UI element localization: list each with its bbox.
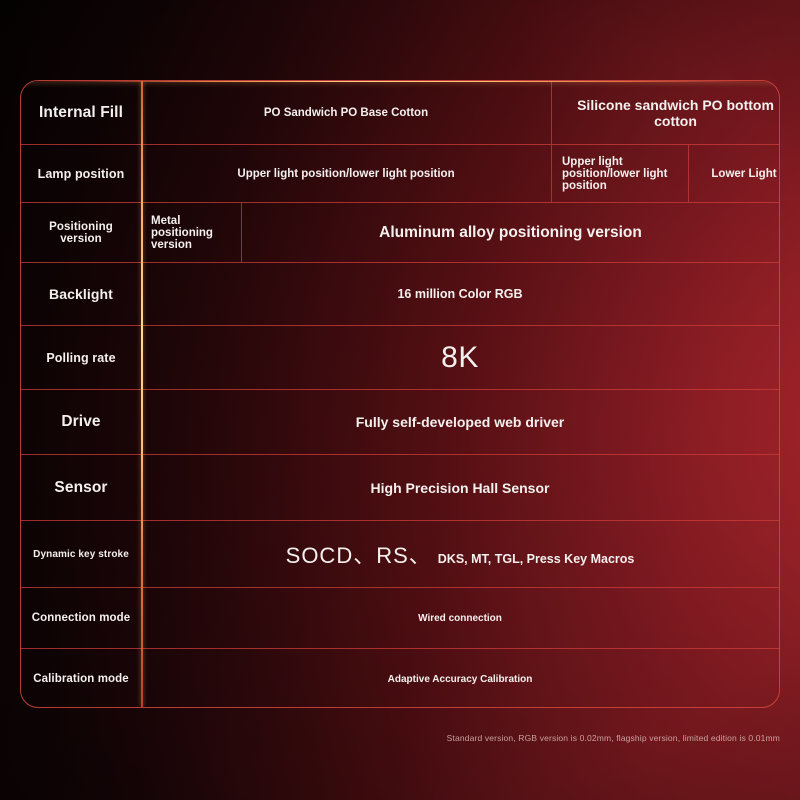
row-label: Drive — [21, 390, 141, 454]
table-row: Connection modeWired connection — [21, 588, 779, 649]
row-value-cell: Metal positioning version — [141, 203, 242, 262]
row-label: Sensor — [21, 455, 141, 520]
table-row: Backlight16 million Color RGB — [21, 263, 779, 326]
row-value-cell: 16 million Color RGB — [141, 263, 779, 325]
row-label: Lamp position — [21, 145, 141, 202]
row-value-cell: Silicone sandwich PO bottom cotton — [552, 81, 780, 144]
table-row: Positioning versionMetal positioning ver… — [21, 203, 779, 263]
row-value-cell: Lower Light — [689, 145, 780, 202]
table-row: Calibration modeAdaptive Accuracy Calibr… — [21, 649, 779, 708]
row-label: Backlight — [21, 263, 141, 325]
row-label: Positioning version — [21, 203, 141, 262]
row-value-cell: High Precision Hall Sensor — [141, 455, 779, 520]
table-row: Dynamic key strokeSOCD、RS、DKS, MT, TGL, … — [21, 521, 779, 588]
row-label: Dynamic key stroke — [21, 521, 141, 587]
row-label: Calibration mode — [21, 649, 141, 708]
row-label: Internal Fill — [21, 81, 141, 144]
socd-lead-text: SOCD、RS、 — [286, 538, 432, 570]
row-value-cell: Upper light position/lower light positio… — [552, 145, 689, 202]
footnote-text: Standard version, RGB version is 0.02mm,… — [0, 733, 780, 743]
row-label: Connection mode — [21, 588, 141, 648]
row-value-cell: Wired connection — [141, 588, 779, 648]
socd-rest-text: DKS, MT, TGL, Press Key Macros — [438, 552, 635, 566]
row-value-cell: Fully self-developed web driver — [141, 390, 779, 454]
table-row: SensorHigh Precision Hall Sensor — [21, 455, 779, 521]
specification-table: Internal FillPO Sandwich PO Base CottonS… — [20, 80, 780, 708]
row-value-cell: Adaptive Accuracy Calibration — [141, 649, 779, 708]
row-value-cell: SOCD、RS、DKS, MT, TGL, Press Key Macros — [141, 521, 779, 587]
row-value-cell: 8K — [141, 326, 779, 389]
table-row: DriveFully self-developed web driver — [21, 390, 779, 455]
table-row: Internal FillPO Sandwich PO Base CottonS… — [21, 81, 779, 145]
table-rows-container: Internal FillPO Sandwich PO Base CottonS… — [21, 81, 779, 708]
row-label: Polling rate — [21, 326, 141, 389]
row-value-cell: PO Sandwich PO Base Cotton — [141, 81, 552, 144]
table-row: Polling rate8K — [21, 326, 779, 390]
row-value-cell: Upper light position/lower light positio… — [141, 145, 552, 202]
row-value-cell: Aluminum alloy positioning version — [242, 203, 779, 262]
table-row: Lamp positionUpper light position/lower … — [21, 145, 779, 203]
